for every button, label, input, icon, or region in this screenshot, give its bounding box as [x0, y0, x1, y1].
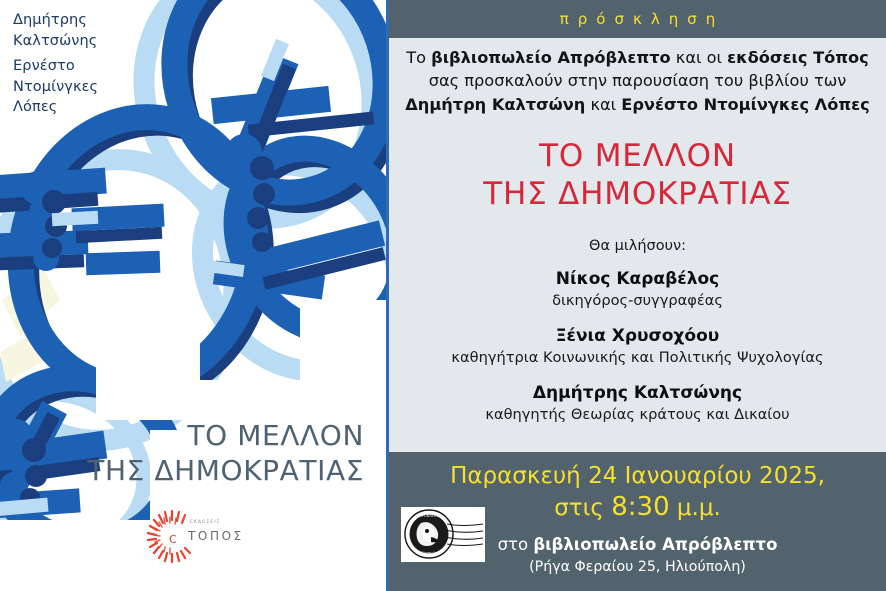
intro-line-2: σας προσκαλούν στην παρουσίαση του βιβλί…: [403, 69, 872, 92]
svg-text:ΑΠΡΟΒΛΕΠΤΟ: ΑΠΡΟΒΛΕΠΤΟ: [416, 514, 441, 518]
time-prefix: στις: [554, 495, 611, 521]
time-suffix: μ.μ.: [670, 495, 721, 521]
speaker-role: καθηγητής Θεωρίας κράτους και Δικαίου: [403, 405, 872, 425]
publisher-name-label: ΤΟΠΟΣ: [188, 529, 244, 543]
invitation-footer-bar: Παρασκευή 24 Ιανουαρίου 2025, στις 8:30 …: [389, 452, 886, 591]
invitation-body: Το βιβλιοπωλείο Απρόβλεπτο και οι εκδόσε…: [389, 38, 886, 452]
intro-line-3: Δημήτρη Καλτσώνη και Ερνέστο Ντομίνγκες …: [403, 93, 872, 116]
speaker-name: Νίκος Καραβέλος: [403, 268, 872, 290]
book-title-line1: ΤΟ ΜΕΛΛΟΝ: [403, 138, 872, 176]
invitation-kicker: πρόσκληση: [551, 10, 724, 28]
cover-author-names: Δημήτρης Καλτσώνης Ερνέστο Ντομίνγκες Λό…: [13, 10, 193, 118]
book-title-heading: ΤΟ ΜΕΛΛΟΝ ΤΗΣ ΔΗΜΟΚΡΑΤΙΑΣ: [403, 138, 872, 214]
event-date-line1: Παρασκευή 24 Ιανουαρίου 2025,: [389, 462, 886, 491]
publisher-sub-label: ΕΚΔΟΣΕΙΣ: [190, 520, 221, 525]
speaker-name: Ξένια Χρυσοχόου: [403, 325, 872, 347]
cover-author-line: Ντομίνγκες: [13, 77, 193, 98]
speaker-entry: Ξένια Χρυσοχόου καθηγήτρια Κοινωνικής κα…: [403, 325, 872, 368]
event-time: 8:30: [611, 492, 669, 522]
cover-title: ΤΟ ΜΕΛΛΟΝ ΤΗΣ ΔΗΜΟΚΡΑΤΙΑΣ: [87, 418, 364, 489]
cover-author-line: Δημήτρης: [13, 10, 193, 31]
svg-text:βιβλιοπωλείο: βιβλιοπωλείο: [418, 551, 441, 555]
author-name-1: Δημήτρη Καλτσώνη: [405, 95, 585, 114]
intro-text: και: [585, 95, 621, 114]
venue-prefix: στο: [498, 535, 534, 554]
publisher-logo-topos: Ϲ ΕΚΔΟΣΕΙΣ ΤΟΠΟΣ: [142, 503, 252, 565]
speakers-lead-label: Θα μιλήσουν:: [403, 238, 872, 254]
cover-author-line: Καλτσώνης: [13, 31, 193, 52]
author-name-2: Ερνέστο Ντομίνγκες Λόπες: [621, 95, 869, 114]
svg-text:Ϲ: Ϲ: [169, 533, 177, 546]
intro-line-1: Το βιβλιοπωλείο Απρόβλεπτο και οι εκδόσε…: [403, 46, 872, 69]
intro-text: και οι: [671, 48, 728, 67]
speaker-role: καθηγήτρια Κοινωνικής και Πολιτικής Ψυχο…: [403, 348, 872, 368]
speaker-role: δικηγόρος-συγγραφέας: [403, 291, 872, 311]
cover-author-line: Λόπες: [13, 97, 193, 118]
book-cover: Δημήτρης Καλτσώνης Ερνέστο Ντομίνγκες Λό…: [0, 0, 386, 591]
invitation-poster: Δημήτρης Καλτσώνης Ερνέστο Ντομίνγκες Λό…: [0, 0, 886, 591]
postal-stamp-icon: ΑΠΡΟΒΛΕΠΤΟ βιβλιοπωλείο: [401, 507, 485, 562]
invitation-intro: Το βιβλιοπωλείο Απρόβλεπτο και οι εκδόσε…: [403, 46, 872, 116]
intro-text: Το: [406, 48, 431, 67]
cover-title-line1: ΤΟ ΜΕΛΛΟΝ: [87, 418, 364, 453]
publisher-name: εκδόσεις Τόπος: [727, 48, 869, 67]
venue-name: βιβλιοπωλείο Απρόβλεπτο: [533, 535, 777, 554]
speaker-name: Δημήτρης Καλτσώνης: [403, 382, 872, 404]
bookshop-name: βιβλιοπωλείο Απρόβλεπτο: [431, 48, 671, 67]
invitation-header-bar: πρόσκληση: [389, 0, 886, 38]
cover-title-line2: ΤΗΣ ΔΗΜΟΚΡΑΤΙΑΣ: [87, 453, 364, 488]
vertical-divider: [386, 0, 389, 591]
speaker-entry: Δημήτρης Καλτσώνης καθηγητής Θεωρίας κρά…: [403, 382, 872, 425]
book-title-line2: ΤΗΣ ΔΗΜΟΚΡΑΤΙΑΣ: [403, 176, 872, 214]
invitation-panel: πρόσκληση Το βιβλιοπωλείο Απρόβλεπτο και…: [389, 0, 886, 591]
speaker-entry: Νίκος Καραβέλος δικηγόρος-συγγραφέας: [403, 268, 872, 311]
cover-author-line: Ερνέστο: [13, 56, 193, 77]
